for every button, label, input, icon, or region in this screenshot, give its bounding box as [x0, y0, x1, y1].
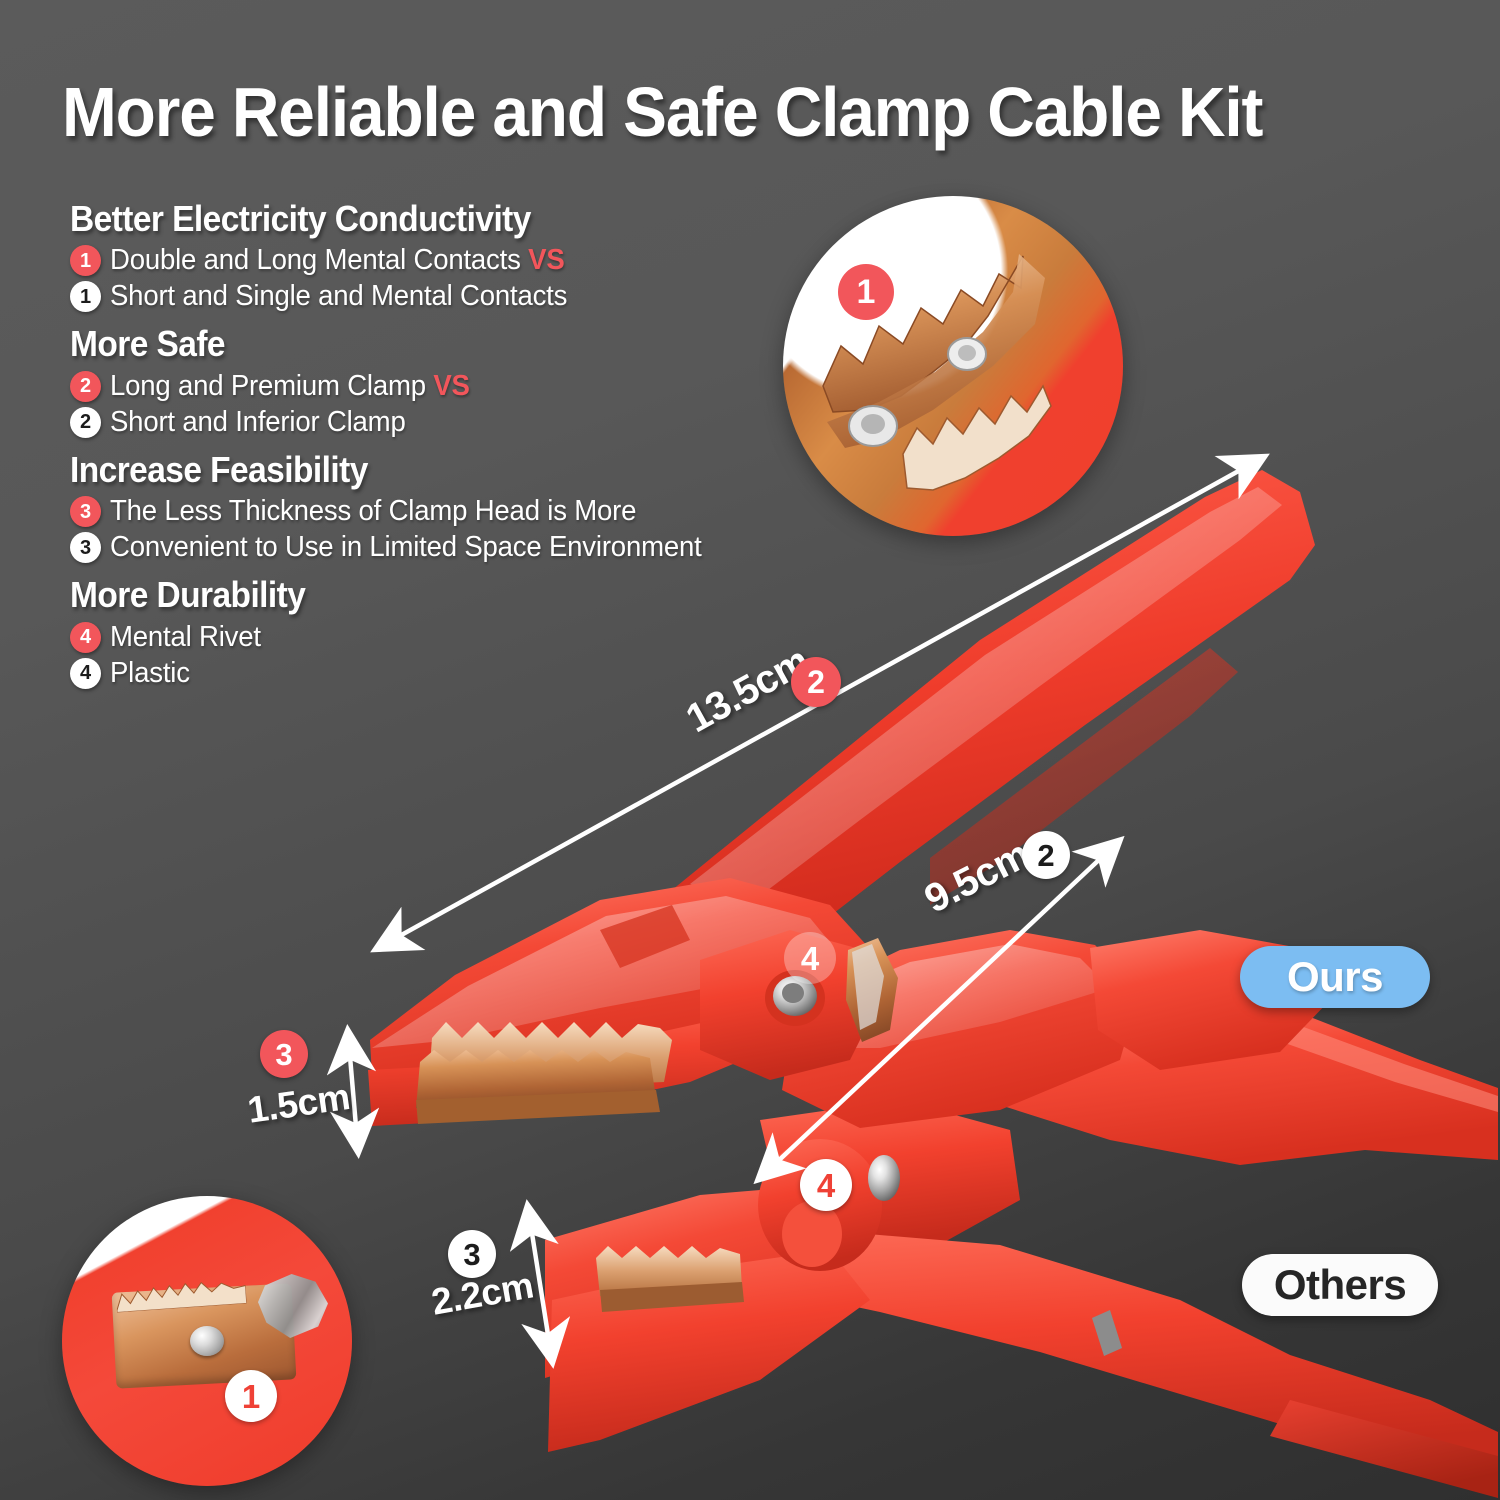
closeup-inset-top [783, 196, 1123, 536]
rivet-detail [190, 1326, 224, 1356]
rivet-badge-ours: 4 [784, 932, 836, 984]
inset-badge-bottom: 1 [225, 1370, 277, 1422]
arrow-1-5cm [348, 1033, 358, 1150]
dimension-badge-handle-length: 2 [791, 657, 841, 707]
clamp-ours [368, 470, 1330, 1128]
label-others: Others [1242, 1254, 1438, 1316]
rivet-badge-others: 4 [800, 1159, 852, 1211]
dimension-badge-thickness-others: 3 [448, 1230, 496, 1278]
copper-teeth-detail-top [783, 196, 1123, 536]
label-ours: Ours [1240, 946, 1430, 1008]
closeup-inset-bottom [62, 1196, 352, 1486]
dimension-badge-jaw-length: 2 [1022, 831, 1070, 879]
infographic-canvas: More Reliable and Safe Clamp Cable Kit B… [0, 0, 1500, 1500]
dimension-badge-thickness-ours: 3 [260, 1030, 308, 1078]
inset-badge-top: 1 [838, 264, 894, 320]
